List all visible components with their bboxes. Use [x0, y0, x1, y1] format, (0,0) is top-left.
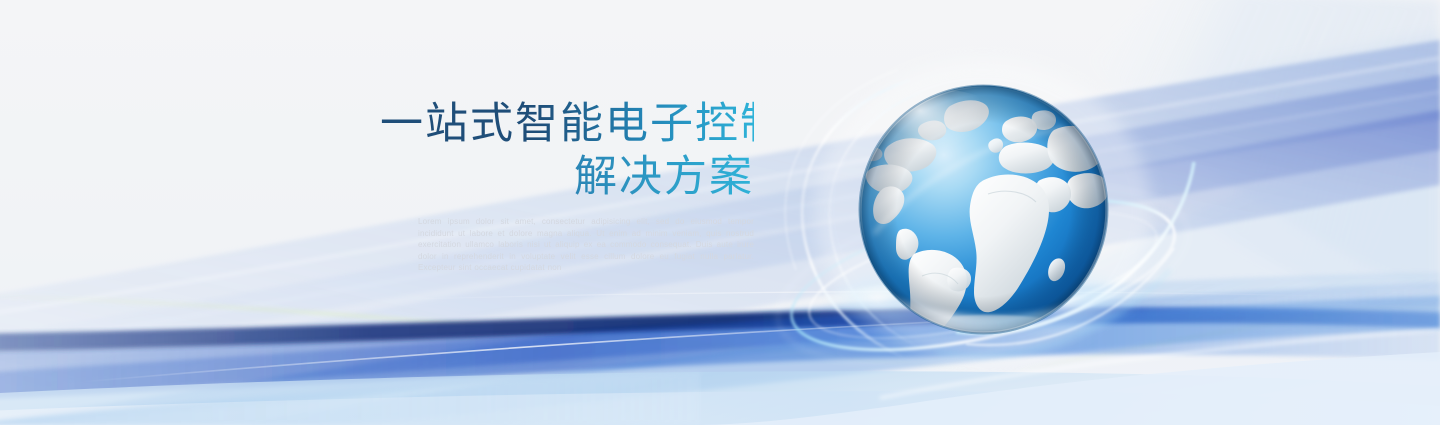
globe	[858, 84, 1109, 335]
hero-text-block: 一站式智能电子控制 解决方案 Lorem ipsum dolor sit ame…	[380, 98, 754, 274]
headline-line-1: 一站式智能电子控制	[380, 98, 754, 151]
headline-line-2: 解决方案	[380, 151, 754, 204]
hero-body-text: Lorem ipsum dolor sit amet, consectetur …	[418, 216, 754, 274]
hero-banner: 一站式智能电子控制 解决方案 Lorem ipsum dolor sit ame…	[0, 0, 1440, 425]
